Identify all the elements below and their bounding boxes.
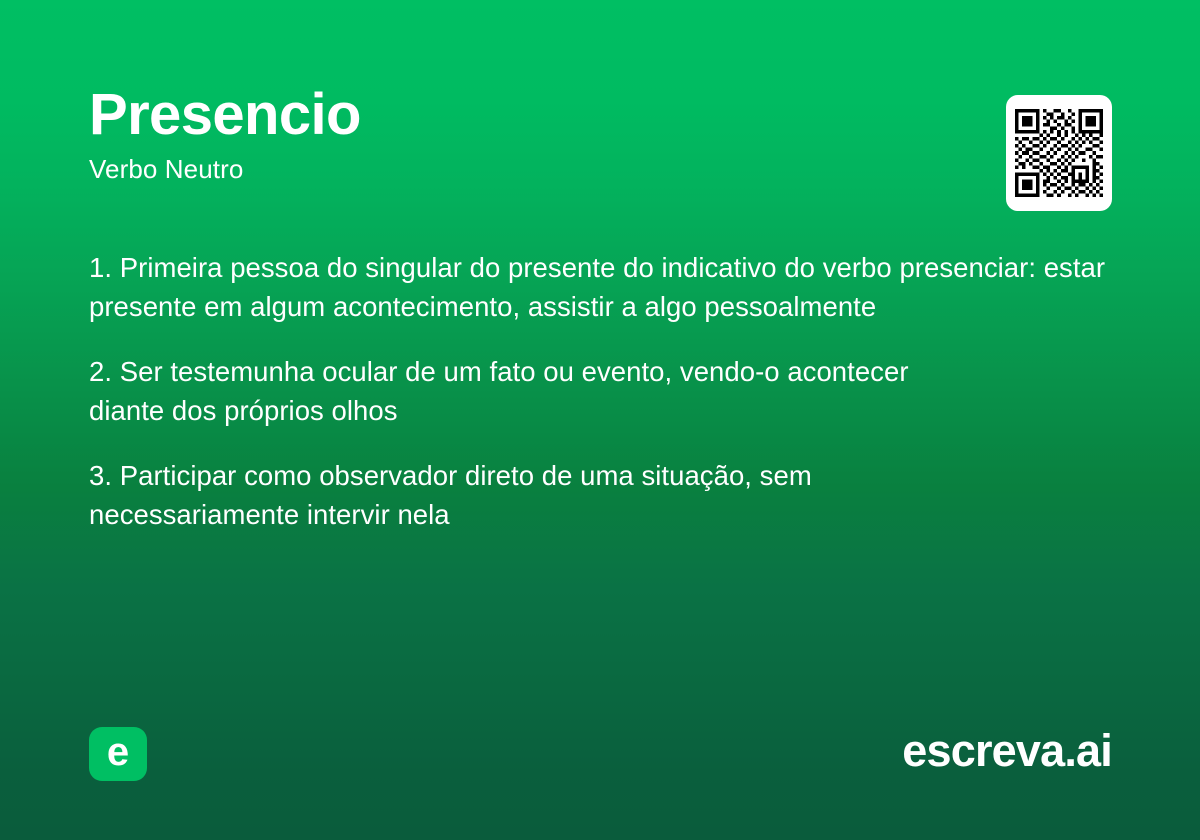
list-item: 2. Ser testemunha ocular de um fato ou e… bbox=[89, 352, 989, 430]
qr-code-icon bbox=[1015, 109, 1103, 197]
word-class-label: Verbo Neutro bbox=[89, 156, 1111, 182]
definitions-list: 1. Primeira pessoa do singular do presen… bbox=[89, 248, 1113, 534]
brand-logo-letter: e bbox=[107, 732, 129, 772]
list-item: 3. Participar como observador direto de … bbox=[89, 456, 1019, 534]
dictionary-card: Presencio Verbo Neutro bbox=[0, 0, 1200, 840]
page-title: Presencio bbox=[89, 86, 1111, 144]
card-header: Presencio Verbo Neutro bbox=[89, 86, 1111, 182]
list-item: 1. Primeira pessoa do singular do presen… bbox=[89, 248, 1111, 326]
qr-code-container[interactable] bbox=[1006, 95, 1112, 211]
brand-name: escreva.ai bbox=[902, 726, 1112, 776]
brand-logo[interactable]: e bbox=[89, 727, 147, 781]
